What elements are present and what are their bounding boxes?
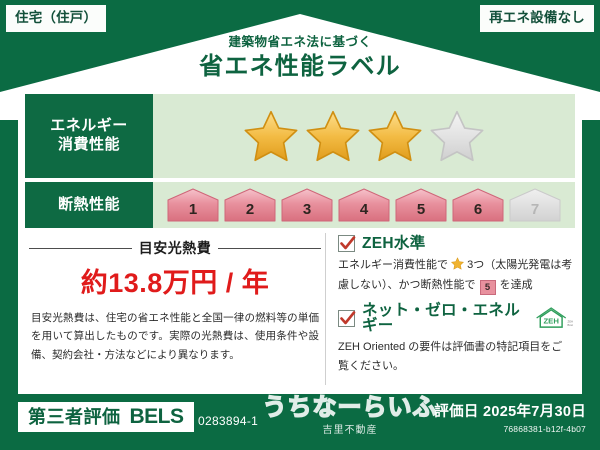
zeh-panel: ZEH水準 エネルギー消費性能で 3つ（太陽光発電は考慮しない）、かつ断熱性能で…	[325, 233, 575, 385]
cost-heading-text: 目安光熱費	[139, 238, 212, 258]
insulation-level-filled: 6	[451, 187, 505, 223]
zeh-standard-title: ZEH水準	[362, 236, 426, 252]
inline-level-badge: 5	[480, 280, 496, 295]
row-energy-label-line1: エネルギー	[50, 117, 128, 136]
row-energy-label-line2: 消費性能	[58, 136, 120, 155]
insulation-level-filled: 4	[337, 187, 391, 223]
star-rating	[243, 108, 485, 164]
row-insulation-performance: 断熱性能 1234567	[25, 182, 575, 228]
insulation-level-label: 3	[303, 202, 311, 223]
energy-performance-label: 住宅（住戸） 再エネ設備なし 建築物省エネ法に基づく 省エネ性能ラベル エネルギ…	[0, 0, 600, 450]
row-energy-value	[153, 94, 575, 178]
insulation-level-label: 7	[531, 202, 539, 223]
zeh-body-post: を達成	[500, 279, 533, 291]
lower-section: 目安光熱費 約13.8万円 / 年 目安光熱費は、住宅の省エネ性能と全国一律の燃…	[25, 233, 575, 385]
cost-panel: 目安光熱費 約13.8万円 / 年 目安光熱費は、住宅の省エネ性能と全国一律の燃…	[25, 233, 325, 385]
page-title: 省エネ性能ラベル	[0, 55, 600, 79]
zeh-standard-body: エネルギー消費性能で 3つ（太陽光発電は考慮しない）、かつ断熱性能で 5 を達成	[338, 256, 573, 296]
row-insulation-label-line1: 断熱性能	[58, 196, 120, 215]
inline-star-icon	[451, 257, 464, 270]
insulation-level-empty: 7	[508, 187, 562, 223]
insulation-level-filled: 3	[280, 187, 334, 223]
checkbox-checked-icon[interactable]	[338, 235, 355, 252]
row-insulation-value: 1234567	[153, 182, 575, 228]
svg-text:Brand: Brand	[568, 323, 573, 327]
bels-certification-chip: 第三者評価 BELS	[18, 402, 194, 432]
star-filled-icon	[243, 108, 299, 164]
evaluation-date-label: 評価日	[434, 404, 478, 420]
zeh-logo-text: ZEH	[543, 317, 559, 326]
insulation-level-filled: 5	[394, 187, 448, 223]
cost-rule-left	[29, 248, 132, 249]
svg-text:ZEH: ZEH	[568, 320, 573, 324]
star-filled-icon	[367, 108, 423, 164]
cost-heading: 目安光熱費	[29, 238, 321, 258]
evaluation-date: 評価日 2025年7月30日	[434, 404, 586, 421]
zeh-net-zero-title: ネット・ゼロ・エネルギー	[362, 303, 526, 334]
zeh-logo-icon: ZEH ZEH Brand	[533, 307, 573, 329]
zeh-net-zero-block: ネット・ゼロ・エネルギー ZEH ZEH Brand ZEH Oriented …	[338, 303, 573, 378]
label-card: エネルギー 消費性能 断熱性能 1234567 目安光熱費	[18, 88, 582, 394]
footer: 第三者評価 BELS 0283894-1 評価日 2025年7月30日 7686…	[0, 396, 600, 450]
insulation-scale: 1234567	[166, 187, 562, 223]
insulation-level-filled: 2	[223, 187, 277, 223]
star-empty-icon	[429, 108, 485, 164]
cost-disclaimer: 目安光熱費は、住宅の省エネ性能と全国一律の燃料等の単価を用いて算出したものです。…	[29, 309, 321, 364]
zeh-net-zero-body: ZEH Oriented の要件は評価書の特記項目をご覧ください。	[338, 338, 573, 378]
insulation-level-label: 5	[417, 202, 425, 223]
bels-label-en: BELS	[130, 406, 184, 427]
checkbox-checked-icon[interactable]	[338, 310, 355, 327]
badge-building-type: 住宅（住戸）	[6, 5, 106, 32]
insulation-level-label: 6	[474, 202, 482, 223]
evaluation-info: 評価日 2025年7月30日 76868381-b12f-4b07	[434, 404, 586, 434]
insulation-level-filled: 1	[166, 187, 220, 223]
bels-number: 0283894-1	[198, 414, 258, 428]
zeh-standard-block: ZEH水準 エネルギー消費性能で 3つ（太陽光発電は考慮しない）、かつ断熱性能で…	[338, 235, 573, 296]
row-energy-performance: エネルギー 消費性能	[25, 94, 575, 178]
title-subtitle: 建築物省エネ法に基づく	[0, 36, 600, 49]
insulation-level-label: 4	[360, 202, 368, 223]
title-block: 建築物省エネ法に基づく 省エネ性能ラベル	[0, 36, 600, 79]
zeh-standard-header: ZEH水準	[338, 235, 573, 252]
row-energy-label: エネルギー 消費性能	[25, 94, 153, 178]
insulation-level-label: 1	[189, 202, 197, 223]
star-filled-icon	[305, 108, 361, 164]
cost-rule-right	[218, 248, 321, 249]
zeh-body-pre: エネルギー消費性能で	[338, 259, 448, 271]
badge-renewable-energy: 再エネ設備なし	[480, 5, 594, 32]
evaluation-uuid: 76868381-b12f-4b07	[434, 424, 586, 434]
bels-label-jp: 第三者評価	[28, 408, 121, 426]
cost-value: 約13.8万円 / 年	[29, 270, 321, 297]
zeh-net-zero-header: ネット・ゼロ・エネルギー ZEH ZEH Brand	[338, 303, 573, 334]
row-insulation-label: 断熱性能	[25, 182, 153, 228]
evaluation-date-value: 2025年7月30日	[483, 404, 586, 420]
insulation-level-label: 2	[246, 202, 254, 223]
